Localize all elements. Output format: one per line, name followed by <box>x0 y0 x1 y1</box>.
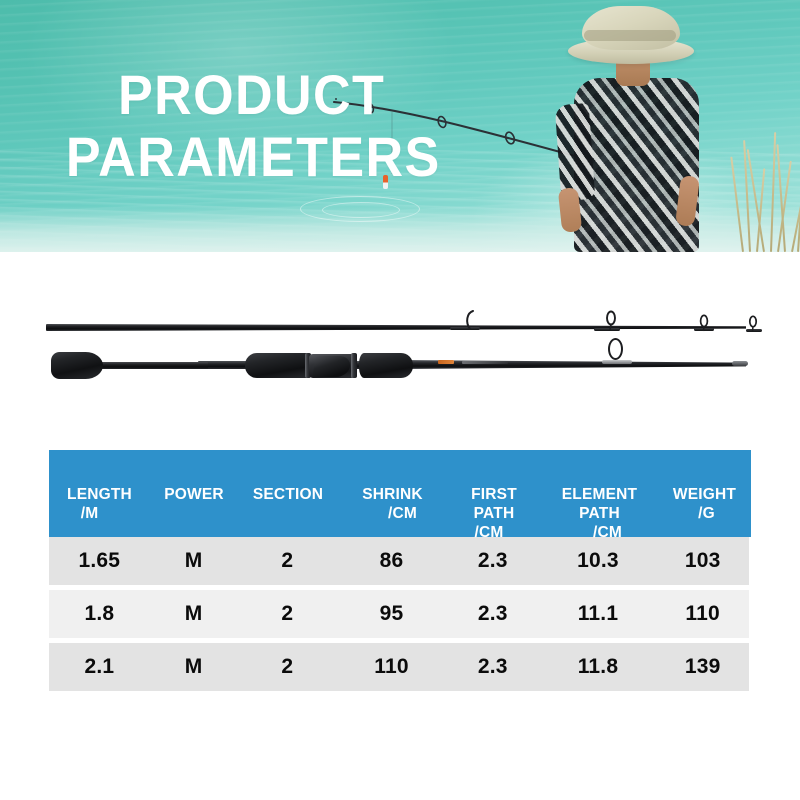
column-header-first-path: FIRST PATH /CM <box>447 450 541 537</box>
column-header-first-path-unit: /CM <box>442 523 536 542</box>
bucket-hat <box>582 6 680 50</box>
water-ripple-ring <box>322 202 400 218</box>
angler-figure <box>560 0 800 252</box>
cell-shrink: 95 <box>337 602 446 626</box>
column-header-shrink-unit: /CM <box>348 504 457 523</box>
title-line-1: PRODUCT <box>118 63 385 126</box>
table-body: 1.65 M 2 86 2.3 10.3 103 1.8 M 2 95 2.3 … <box>49 537 751 691</box>
column-header-length: LENGTH /M <box>49 450 150 537</box>
cell-length: 1.8 <box>49 602 150 626</box>
column-header-shrink-name: SHRINK <box>362 486 423 503</box>
column-header-shrink: SHRINK /CM <box>338 450 447 537</box>
product-photo <box>0 252 800 420</box>
line-guide-icon <box>604 310 620 330</box>
column-header-section-name: SECTION <box>253 486 323 503</box>
title-line-2: PARAMETERS <box>66 126 441 188</box>
line-guide-icon <box>698 314 712 331</box>
model-decal <box>462 361 508 364</box>
hat-band <box>584 30 676 41</box>
table-row: 2.1 M 2 110 2.3 11.8 139 <box>49 643 749 691</box>
guide-foot <box>602 360 632 364</box>
cell-section: 2 <box>237 549 337 573</box>
rear-grip <box>245 353 311 378</box>
cell-first-path: 2.3 <box>446 549 540 573</box>
cell-power: M <box>150 549 238 573</box>
rod-blank-tip <box>46 324 746 331</box>
cell-section: 2 <box>237 602 337 626</box>
cell-weight: 139 <box>656 655 749 679</box>
ferrule-cap <box>732 361 748 366</box>
cell-weight: 103 <box>656 549 749 573</box>
table-row: 1.8 M 2 95 2.3 11.1 110 <box>49 590 749 638</box>
cell-power: M <box>150 602 238 626</box>
cell-shrink: 86 <box>337 549 446 573</box>
cell-power: M <box>150 655 238 679</box>
rod-tip-section <box>46 324 746 331</box>
cell-first-path: 2.3 <box>446 655 540 679</box>
column-header-element-path-unit: /CM <box>549 523 666 542</box>
column-header-power-name: POWER <box>164 486 224 503</box>
cell-first-path: 2.3 <box>446 602 540 626</box>
column-header-element-path-name: ELEMENT PATH <box>562 486 637 522</box>
cell-element-path: 11.1 <box>540 602 657 626</box>
table-header-row: LENGTH /M POWER SECTION SHRINK /CM FIRST… <box>49 450 751 537</box>
column-header-weight: WEIGHT /G <box>658 450 751 537</box>
rod-butt-section <box>46 348 746 382</box>
reeds <box>738 126 800 252</box>
tip-top-guide-icon <box>747 315 760 331</box>
butt-cap-grip <box>51 352 103 379</box>
cell-length: 2.1 <box>49 655 150 679</box>
line-guide-icon <box>464 310 480 330</box>
cell-element-path: 10.3 <box>540 549 657 573</box>
column-header-weight-unit: /G <box>660 504 753 523</box>
column-header-element-path: ELEMENT PATH /CM <box>541 450 658 537</box>
column-header-length-name: LENGTH <box>67 486 132 503</box>
brand-decal <box>438 360 454 364</box>
reel-seat-ring <box>351 353 357 378</box>
column-header-power: POWER <box>150 450 238 537</box>
shirt-sleeve <box>555 103 596 201</box>
cell-weight: 110 <box>656 602 749 626</box>
cell-element-path: 11.8 <box>540 655 657 679</box>
cell-shrink: 110 <box>337 655 446 679</box>
column-header-weight-name: WEIGHT <box>673 486 736 503</box>
specification-table: LENGTH /M POWER SECTION SHRINK /CM FIRST… <box>49 450 751 691</box>
product-parameters-page: PRODUCT PARAMETERS <box>0 0 800 800</box>
column-header-first-path-name: FIRST PATH <box>471 486 517 522</box>
column-header-length-unit: /M <box>39 504 140 523</box>
fore-grip <box>359 353 413 378</box>
column-header-section: SECTION <box>238 450 338 537</box>
page-title: PRODUCT PARAMETERS <box>118 64 441 188</box>
stripper-guide-icon <box>608 338 623 360</box>
cell-length: 1.65 <box>49 549 150 573</box>
cell-section: 2 <box>237 655 337 679</box>
hero-banner: PRODUCT PARAMETERS <box>0 0 800 252</box>
rod-blank-lower <box>98 362 208 369</box>
